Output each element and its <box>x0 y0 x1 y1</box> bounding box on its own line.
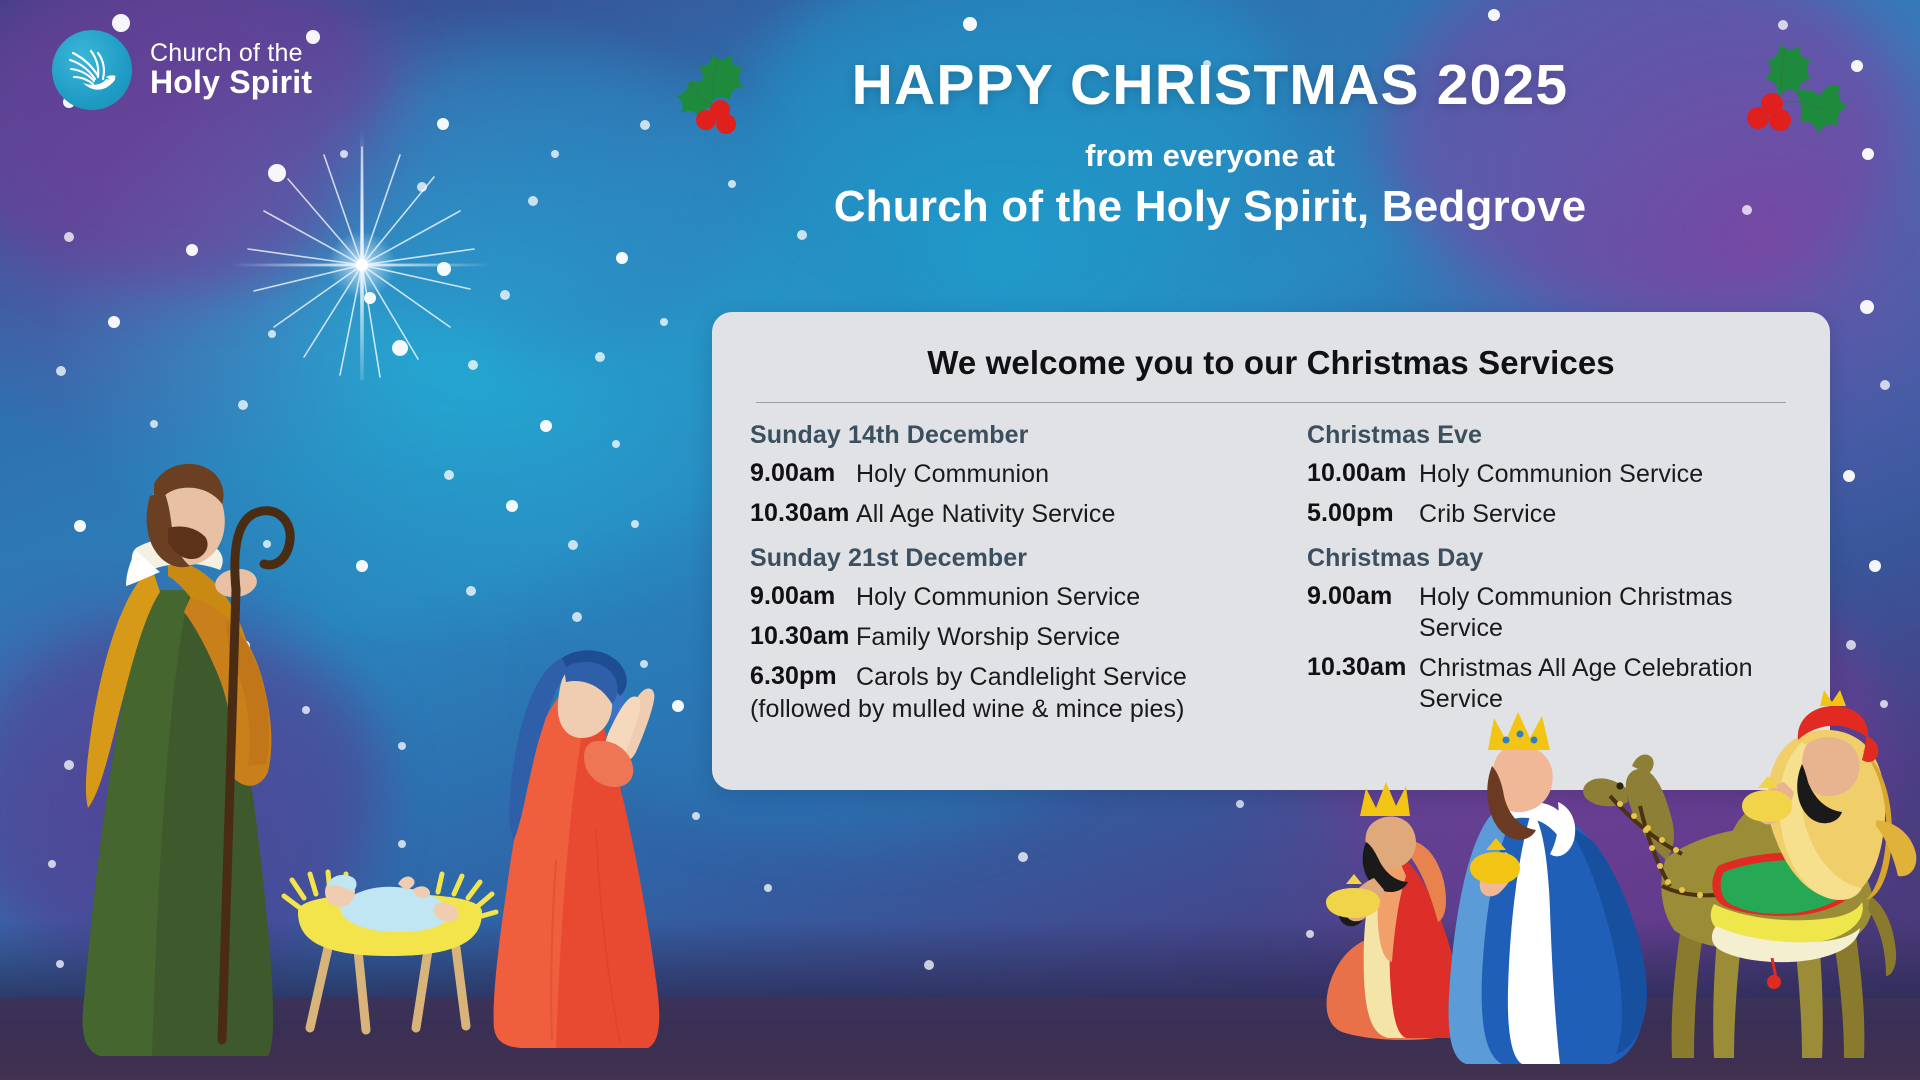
snowflake <box>1778 20 1788 30</box>
service-day-heading: Sunday 21st December <box>750 544 1271 573</box>
snowflake <box>150 420 158 428</box>
logo-wordmark: Church of the Holy Spirit <box>150 41 312 99</box>
services-column-2: Christmas Eve10.00amHoly Communion Servi… <box>1271 417 1792 724</box>
snowflake <box>398 840 406 848</box>
snowflake <box>924 960 934 970</box>
service-time: 10.30am <box>1307 653 1419 682</box>
service-time: 6.30pm <box>750 662 856 691</box>
star-of-bethlehem-icon <box>232 130 492 380</box>
wise-man-kneeling <box>1326 782 1463 1040</box>
wise-man-standing <box>1449 712 1647 1064</box>
snowflake <box>572 612 582 622</box>
service-name: Holy Communion Service <box>856 582 1140 613</box>
services-column-1: Sunday 14th December9.00amHoly Communion… <box>750 417 1271 724</box>
service-name: Crib Service <box>1419 499 1556 530</box>
snowflake <box>963 17 977 31</box>
snowflake <box>238 400 248 410</box>
service-time: 9.00am <box>750 459 856 488</box>
snowflake <box>660 318 668 326</box>
christmas-poster: Church of the Holy Spirit <box>0 0 1920 1080</box>
services-columns: Sunday 14th December9.00amHoly Communion… <box>750 417 1792 724</box>
snowflake <box>108 316 120 328</box>
snowflake <box>612 440 620 448</box>
service-name: Carols by Candlelight Service <box>856 662 1187 693</box>
snowflake <box>1846 640 1856 650</box>
service-row: 10.00amHoly Communion Service <box>1307 459 1792 490</box>
service-time: 9.00am <box>1307 582 1419 611</box>
snowflake <box>500 290 510 300</box>
church-logo[interactable]: Church of the Holy Spirit <box>52 30 312 110</box>
snowflake <box>1018 852 1028 862</box>
service-time: 5.00pm <box>1307 499 1419 528</box>
snowflake <box>540 420 552 432</box>
header-church-name: Church of the Holy Spirit, Bedgrove <box>620 182 1800 232</box>
snowflake <box>1488 9 1500 21</box>
service-name: Holy Communion Service <box>1419 459 1703 490</box>
service-day-heading: Christmas Day <box>1307 544 1792 573</box>
snowflake <box>551 150 559 158</box>
snowflake <box>528 196 538 206</box>
logo-line-1: Church of the <box>150 41 312 67</box>
service-row: 5.00pmCrib Service <box>1307 499 1792 530</box>
header-block: HAPPY CHRISTMAS 2025 from everyone at Ch… <box>620 52 1800 232</box>
snowflake <box>1860 300 1874 314</box>
service-row: 10.30amAll Age Nativity Service <box>750 499 1271 530</box>
service-row: 9.00amHoly Communion Service <box>750 582 1271 613</box>
snowflake <box>1843 470 1855 482</box>
service-time: 10.30am <box>750 622 856 651</box>
service-name: Holy Communion Christmas Service <box>1419 582 1792 644</box>
wise-men-figure <box>1310 690 1920 1080</box>
snowflake <box>444 470 454 480</box>
service-name: Holy Communion <box>856 459 1049 490</box>
services-panel-title: We welcome you to our Christmas Services <box>750 344 1792 382</box>
service-row: 10.30amFamily Worship Service <box>750 622 1271 653</box>
manger-figure <box>280 850 500 1045</box>
snowflake <box>631 520 639 528</box>
service-name: Family Worship Service <box>856 622 1120 653</box>
service-time: 10.00am <box>1307 459 1419 488</box>
snowflake <box>764 884 772 892</box>
service-row: 9.00amHoly Communion <box>750 459 1271 490</box>
header-subtitle: from everyone at <box>620 138 1800 174</box>
snowflake <box>568 540 578 550</box>
service-row: 9.00amHoly Communion Christmas Service <box>1307 582 1792 644</box>
snowflake <box>56 366 66 376</box>
snowflake <box>64 232 74 242</box>
snowflake <box>437 118 449 130</box>
panel-divider <box>756 402 1786 403</box>
service-day-heading: Sunday 14th December <box>750 421 1271 450</box>
service-row: 6.30pmCarols by Candlelight Service <box>750 662 1271 693</box>
service-time: 9.00am <box>750 582 856 611</box>
mary-figure <box>470 630 700 1065</box>
snowflake <box>356 560 368 572</box>
snowflake <box>1880 380 1890 390</box>
service-time: 10.30am <box>750 499 856 528</box>
snowflake <box>398 742 406 750</box>
service-note: (followed by mulled wine & mince pies) <box>750 695 1271 724</box>
snowflake <box>1869 560 1881 572</box>
logo-line-2: Holy Spirit <box>150 66 312 99</box>
dove-icon <box>52 30 132 110</box>
snowflake <box>616 252 628 264</box>
snowflake <box>506 500 518 512</box>
service-day-heading: Christmas Eve <box>1307 421 1792 450</box>
snowflake <box>186 244 198 256</box>
snowflake <box>466 586 476 596</box>
page-title: HAPPY CHRISTMAS 2025 <box>620 52 1800 118</box>
service-name: All Age Nativity Service <box>856 499 1115 530</box>
snowflake <box>595 352 605 362</box>
snowflake <box>1236 800 1244 808</box>
